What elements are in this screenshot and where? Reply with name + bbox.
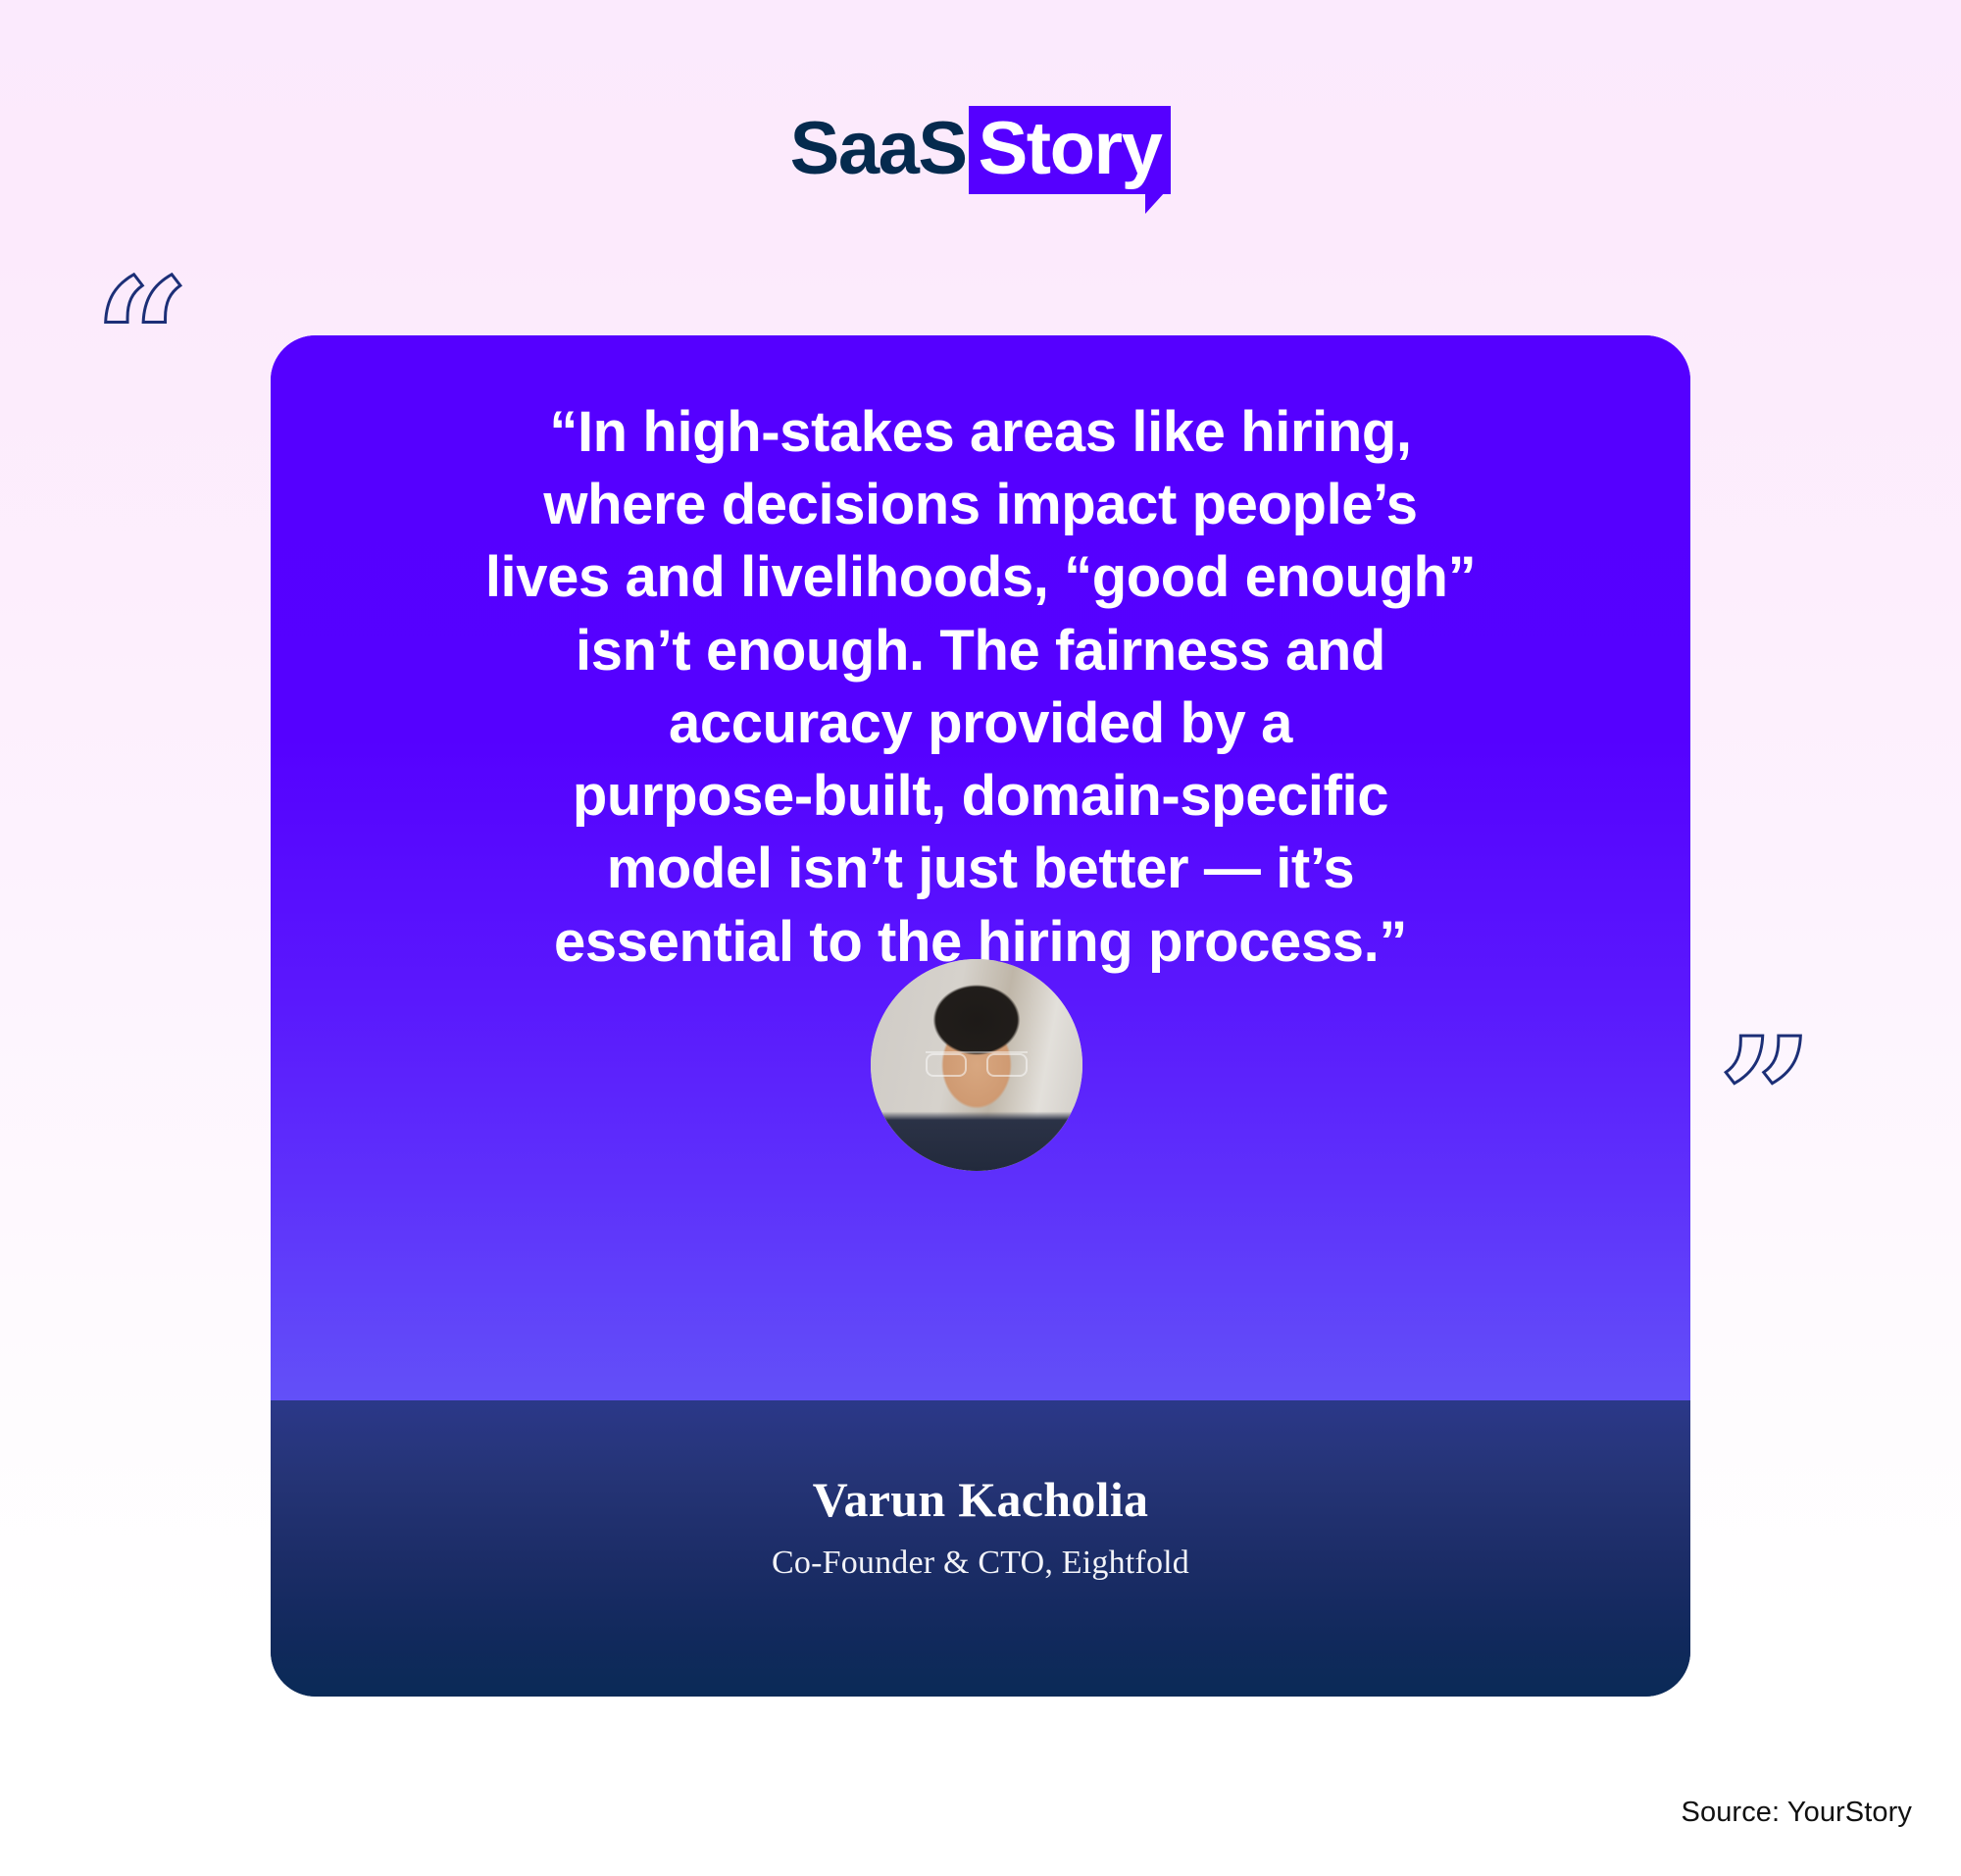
source-credit: Source: YourStory [1682, 1797, 1912, 1829]
quote-text: “In high-stakes areas like hiring, where… [357, 396, 1604, 979]
speaker-name: Varun Kacholia [271, 1473, 1690, 1527]
open-quote-icon: “ [94, 257, 190, 424]
brand-logo-text: SaaSStory [790, 106, 1172, 194]
quote-card-graphic: SaaSStory “ ” “In high-stakes areas like… [0, 0, 1961, 1876]
brand-logo-story: Story [969, 106, 1172, 194]
brand-logo: SaaSStory [0, 106, 1961, 194]
avatar [871, 959, 1082, 1171]
attribution: Varun Kacholia Co-Founder & CTO, Eightfo… [271, 1473, 1690, 1581]
close-quote-icon: ” [1718, 1016, 1814, 1183]
brand-logo-saas: SaaS [790, 107, 967, 190]
speaker-role: Co-Founder & CTO, Eightfold [271, 1545, 1690, 1581]
quote-card: “In high-stakes areas like hiring, where… [271, 335, 1690, 1697]
glasses-icon [926, 1051, 1028, 1073]
brand-logo-story-label: Story [979, 107, 1162, 190]
speech-bubble-tail-icon [1145, 192, 1165, 214]
